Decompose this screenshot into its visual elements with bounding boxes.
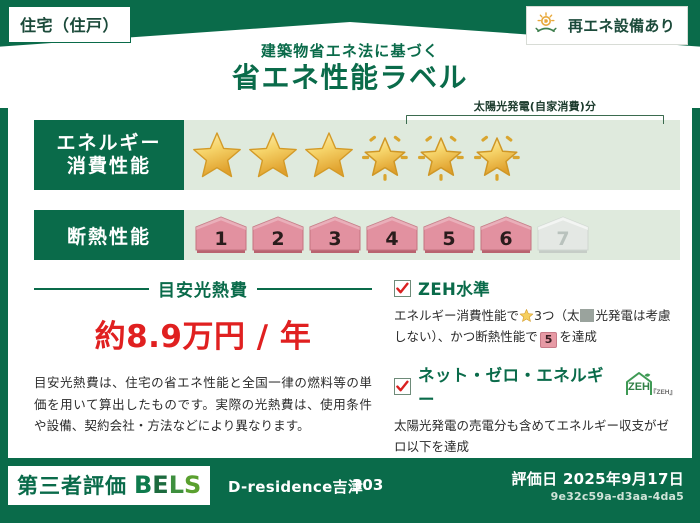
utility-cost-heading: 目安光熱費 <box>158 276 248 301</box>
insulation-grade-badge-4: 4 <box>365 216 419 254</box>
inline-grade-badge: 5 <box>540 332 558 348</box>
insulation-performance-row: 断熱性能 1234567 <box>34 210 680 260</box>
bels-letter: L <box>169 471 184 499</box>
criteria-text-net-zero: 太陽光発電の売電分も含めてエネルギー収支がゼロ以下を達成 <box>394 415 674 457</box>
criteria-block: ZEH水準 エネルギー消費性能で3つ（太光発電は考慮しない）、かつ断熱性能で5を… <box>394 276 674 471</box>
utility-cost-value: 約8.9万円 / 年 <box>34 311 372 356</box>
bels-jp-label: 第三者評価 <box>17 470 127 500</box>
unit-number: 303 <box>352 476 383 494</box>
star-icon-sparkle-6 <box>470 128 524 182</box>
footer-bar: 第三者評価 BELS D-residence吉津 303 評価日 2025年9月… <box>0 458 700 523</box>
svg-text:ZEH: ZEH <box>628 381 650 393</box>
insulation-grade-badge-1: 1 <box>194 216 248 254</box>
insulation-grade-badge-7: 7 <box>536 216 590 254</box>
evaluation-id: 9e32c59a-d3aa-4da5 <box>551 490 684 503</box>
svg-text:『ZEH』: 『ZEH』 <box>650 387 674 396</box>
heading-rule-right <box>257 288 372 290</box>
label-title-block: 建築物省エネ法に基づく 省エネ性能ラベル <box>0 40 700 94</box>
utility-cost-block: 目安光熱費 約8.9万円 / 年 目安光熱費は、住宅の省エネ性能と全国一律の燃料… <box>34 276 372 437</box>
star-icon-filled-1 <box>190 128 244 182</box>
heading-rule-left <box>34 288 149 290</box>
insulation-grade-number: 3 <box>328 228 341 254</box>
utility-cost-note: 目安光熱費は、住宅の省エネ性能と全国一律の燃料等の単価を用いて算出したものです。… <box>34 372 372 437</box>
insulation-performance-label: 断熱性能 <box>34 210 184 260</box>
criteria-title-zeh-level: ZEH水準 <box>418 276 490 300</box>
redacted-character <box>580 309 594 322</box>
renewable-badge-label: 再エネ設備あり <box>568 15 675 36</box>
main-card: エネルギー 消費性能 太陽光発電(自家消費)分 <box>8 98 692 458</box>
star-icon-inline <box>519 308 534 323</box>
insulation-grades-panel: 1234567 <box>184 210 680 260</box>
checkbox-checked-icon <box>394 378 411 395</box>
criteria-head-net-zero: ネット・ゼロ・エネルギー ZEH 『ZEH』 <box>394 362 674 410</box>
title-main: 省エネ性能ラベル <box>0 63 700 94</box>
bels-logo: BELS <box>134 471 201 499</box>
building-name: D-residence吉津 <box>228 476 363 497</box>
utility-cost-heading-row: 目安光熱費 <box>34 276 372 301</box>
bels-letter: E <box>152 471 168 499</box>
solar-annotation-caption: 太陽光発電(自家消費)分 <box>406 98 664 114</box>
energy-performance-row: エネルギー 消費性能 太陽光発電(自家消費)分 <box>34 120 680 190</box>
bels-letter: B <box>134 471 152 499</box>
solar-annotation: 太陽光発電(自家消費)分 <box>406 98 664 124</box>
bels-certification-chip: 第三者評価 BELS <box>8 466 210 505</box>
insulation-grade-badge-2: 2 <box>251 216 305 254</box>
criteria-head-zeh-level: ZEH水準 <box>394 276 674 300</box>
insulation-grade-number: 4 <box>385 228 398 254</box>
zeh-logo-icon: ZEH 『ZEH』 <box>622 371 674 401</box>
insulation-grade-number: 2 <box>271 228 284 254</box>
star-icon-filled-2 <box>246 128 300 182</box>
evaluation-date: 評価日 2025年9月17日 <box>512 468 685 489</box>
solar-sun-icon <box>535 12 561 38</box>
star-icon-sparkle-4 <box>358 128 412 182</box>
insulation-grade-badge-5: 5 <box>422 216 476 254</box>
solar-bracket <box>406 115 664 124</box>
criteria-text-zeh-level: エネルギー消費性能で3つ（太光発電は考慮しない）、かつ断熱性能で5を達成 <box>394 305 674 348</box>
bels-letter: S <box>184 471 201 499</box>
criteria-item-net-zero: ネット・ゼロ・エネルギー ZEH 『ZEH』 太陽光発電の売電分も含めてエネルギ… <box>394 362 674 457</box>
insulation-grade-badge-6: 6 <box>479 216 533 254</box>
insulation-grade-badge-3: 3 <box>308 216 362 254</box>
criteria-item-zeh-level: ZEH水準 エネルギー消費性能で3つ（太光発電は考慮しない）、かつ断熱性能で5を… <box>394 276 674 348</box>
criteria-title-net-zero: ネット・ゼロ・エネルギー <box>418 362 611 410</box>
energy-performance-label: エネルギー 消費性能 <box>34 120 184 190</box>
category-chip: 住宅（住戸） <box>8 6 131 43</box>
insulation-grade-number: 5 <box>442 228 455 254</box>
checkbox-checked-icon <box>394 280 411 297</box>
energy-performance-label: 住宅（住戸） 再エネ設備あり 建築物省エネ法に基づく 省エ <box>0 0 700 523</box>
insulation-grade-number: 1 <box>214 228 227 254</box>
energy-stars-panel: 太陽光発電(自家消費)分 <box>184 120 680 190</box>
star-icon-filled-3 <box>302 128 356 182</box>
insulation-grade-number: 6 <box>499 228 512 254</box>
renewable-energy-badge: 再エネ設備あり <box>526 6 688 45</box>
star-icon-sparkle-5 <box>414 128 468 182</box>
insulation-grade-number: 7 <box>556 228 569 254</box>
